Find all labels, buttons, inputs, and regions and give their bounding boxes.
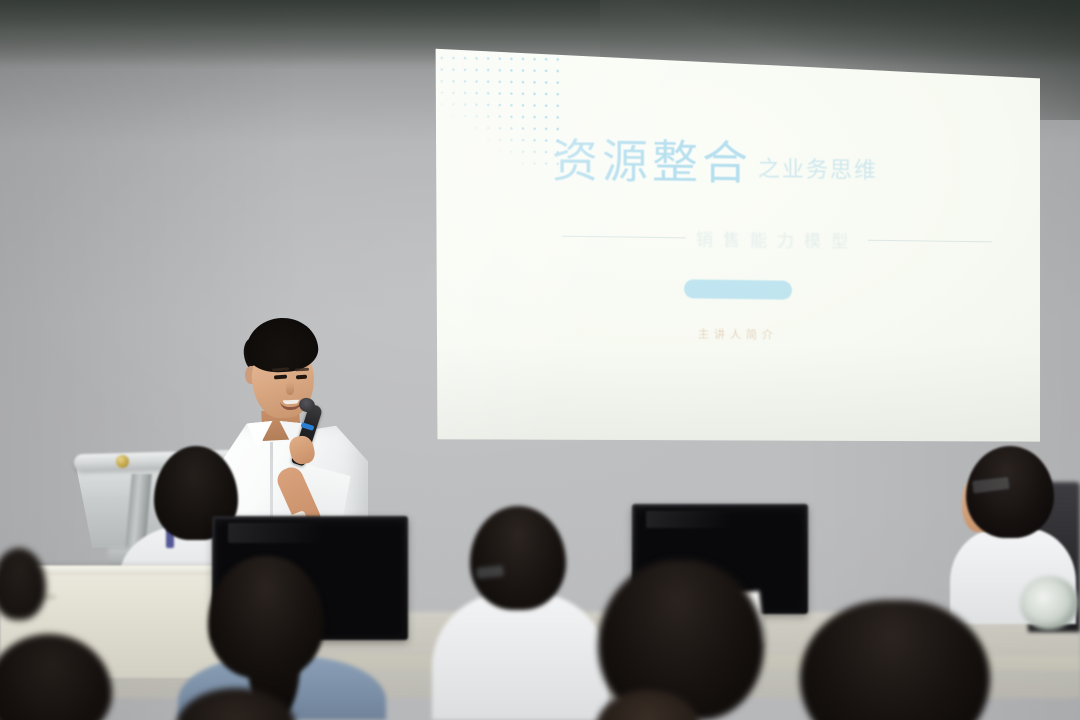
attendee-center-glasses-body: [432, 592, 608, 720]
monitor-left-glint: [228, 523, 322, 543]
presenter-hair: [245, 316, 320, 374]
attendee-ponytail-head: [208, 556, 324, 678]
presenter-brow-right: [295, 368, 309, 371]
projection-screen[interactable]: 资源整合 之业务思维 销售能力模型 主讲人简介: [432, 44, 1040, 444]
monitor-right-glint: [646, 511, 730, 529]
screen-edge: [432, 44, 1040, 444]
attendee-center-glasses-head: [470, 506, 566, 610]
presenter-eye-right: [296, 375, 307, 380]
chair-headrest-mesh: [1026, 582, 1070, 624]
presenter-nose: [286, 382, 294, 395]
photo-scene: 资源整合 之业务思维 销售能力模型 主讲人简介: [0, 0, 1080, 720]
